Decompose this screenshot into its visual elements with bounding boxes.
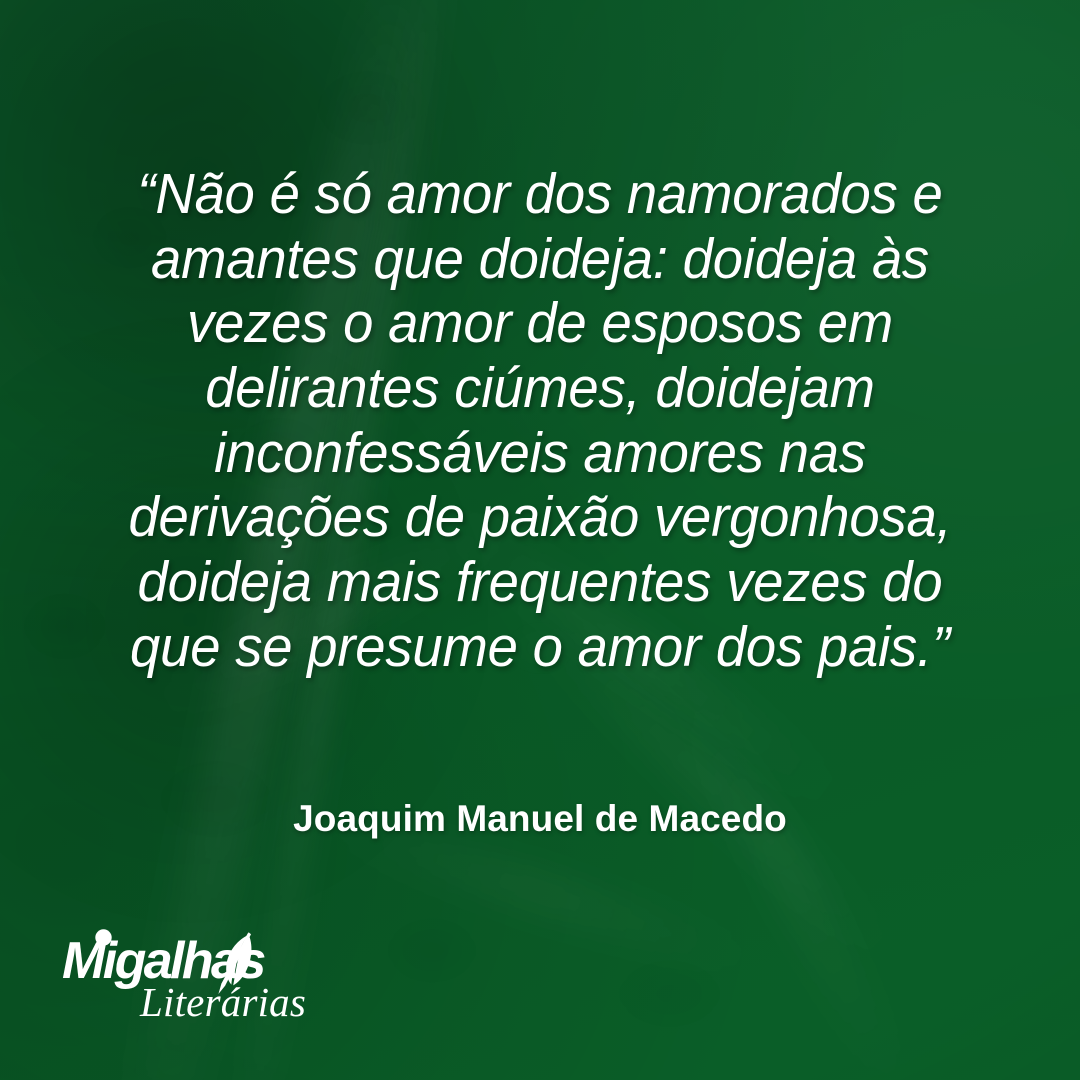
quote-line: doideja mais frequentes vezes do [126,550,955,615]
quote-line: vezes o amor de esposos em [126,291,955,356]
quote-line: amantes que doideja: doideja às [126,227,955,292]
quote-line: derivações de paixão vergonhosa, [126,485,955,550]
card-content: “Não é só amor dos namorados e amantes q… [0,0,1080,1080]
quote-line: inconfessáveis amores nas [126,421,955,486]
quote-block: “Não é só amor dos namorados e amantes q… [40,162,1040,680]
quote-line: que se presume o amor dos pais.” [126,615,955,680]
quote-text: “Não é só amor dos namorados e amantes q… [126,162,955,680]
quote-card: “Não é só amor dos namorados e amantes q… [0,0,1080,1080]
migalhas-literarias-logo[interactable]: Migalhas Literárias [62,928,312,1024]
logo-subword: Literárias [139,979,306,1025]
quote-line: delirantes ciúmes, doidejam [126,356,955,421]
author-name: Joaquim Manuel de Macedo [0,798,1080,840]
quote-line: “Não é só amor dos namorados e [126,162,955,227]
logo-i-dot [95,929,111,945]
